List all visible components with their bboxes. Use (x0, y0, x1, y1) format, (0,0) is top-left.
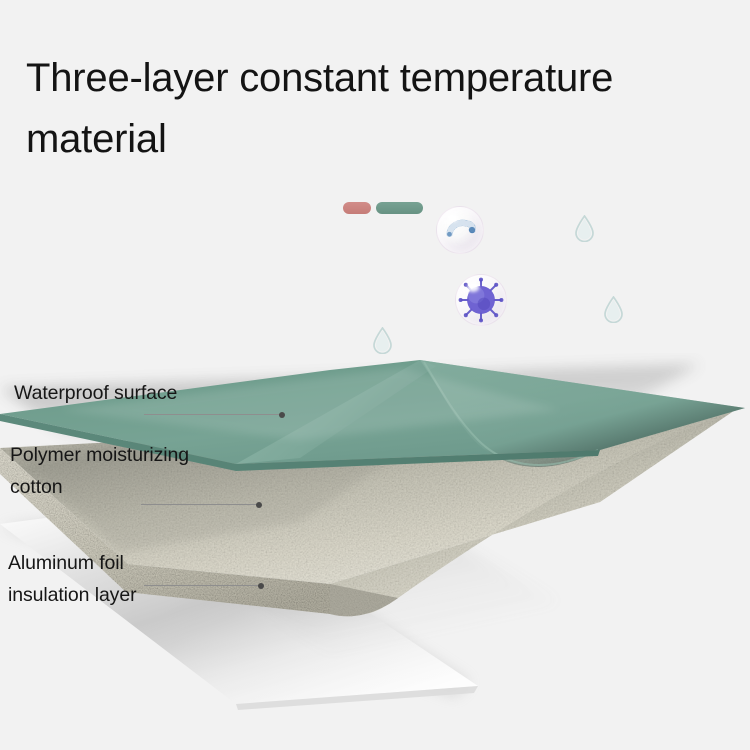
page-title: Three-layer constant temperature materia… (26, 48, 726, 170)
label-waterproof-surface: Waterproof surface (14, 378, 177, 410)
label-aluminum-foil: Aluminum foil insulation layer (8, 548, 136, 611)
label-polymer-cotton: Polymer moisturizing cotton (10, 440, 189, 503)
leader-line-waterproof (144, 414, 282, 415)
water-droplet-icon (574, 215, 595, 242)
pill-red-icon (343, 202, 371, 214)
leader-line-foil (144, 585, 261, 586)
virus-icon (456, 275, 506, 325)
germ-bubble-icon (436, 206, 484, 254)
water-droplet-icon (372, 327, 393, 354)
pill-group (343, 201, 423, 215)
water-droplet-icon (603, 296, 624, 323)
product-infographic: Three-layer constant temperature materia… (0, 0, 750, 750)
pill-green-icon (376, 202, 423, 214)
leader-line-polymer (141, 504, 259, 505)
bacteria-icon (437, 207, 483, 253)
virus-bubble-icon (455, 274, 507, 326)
